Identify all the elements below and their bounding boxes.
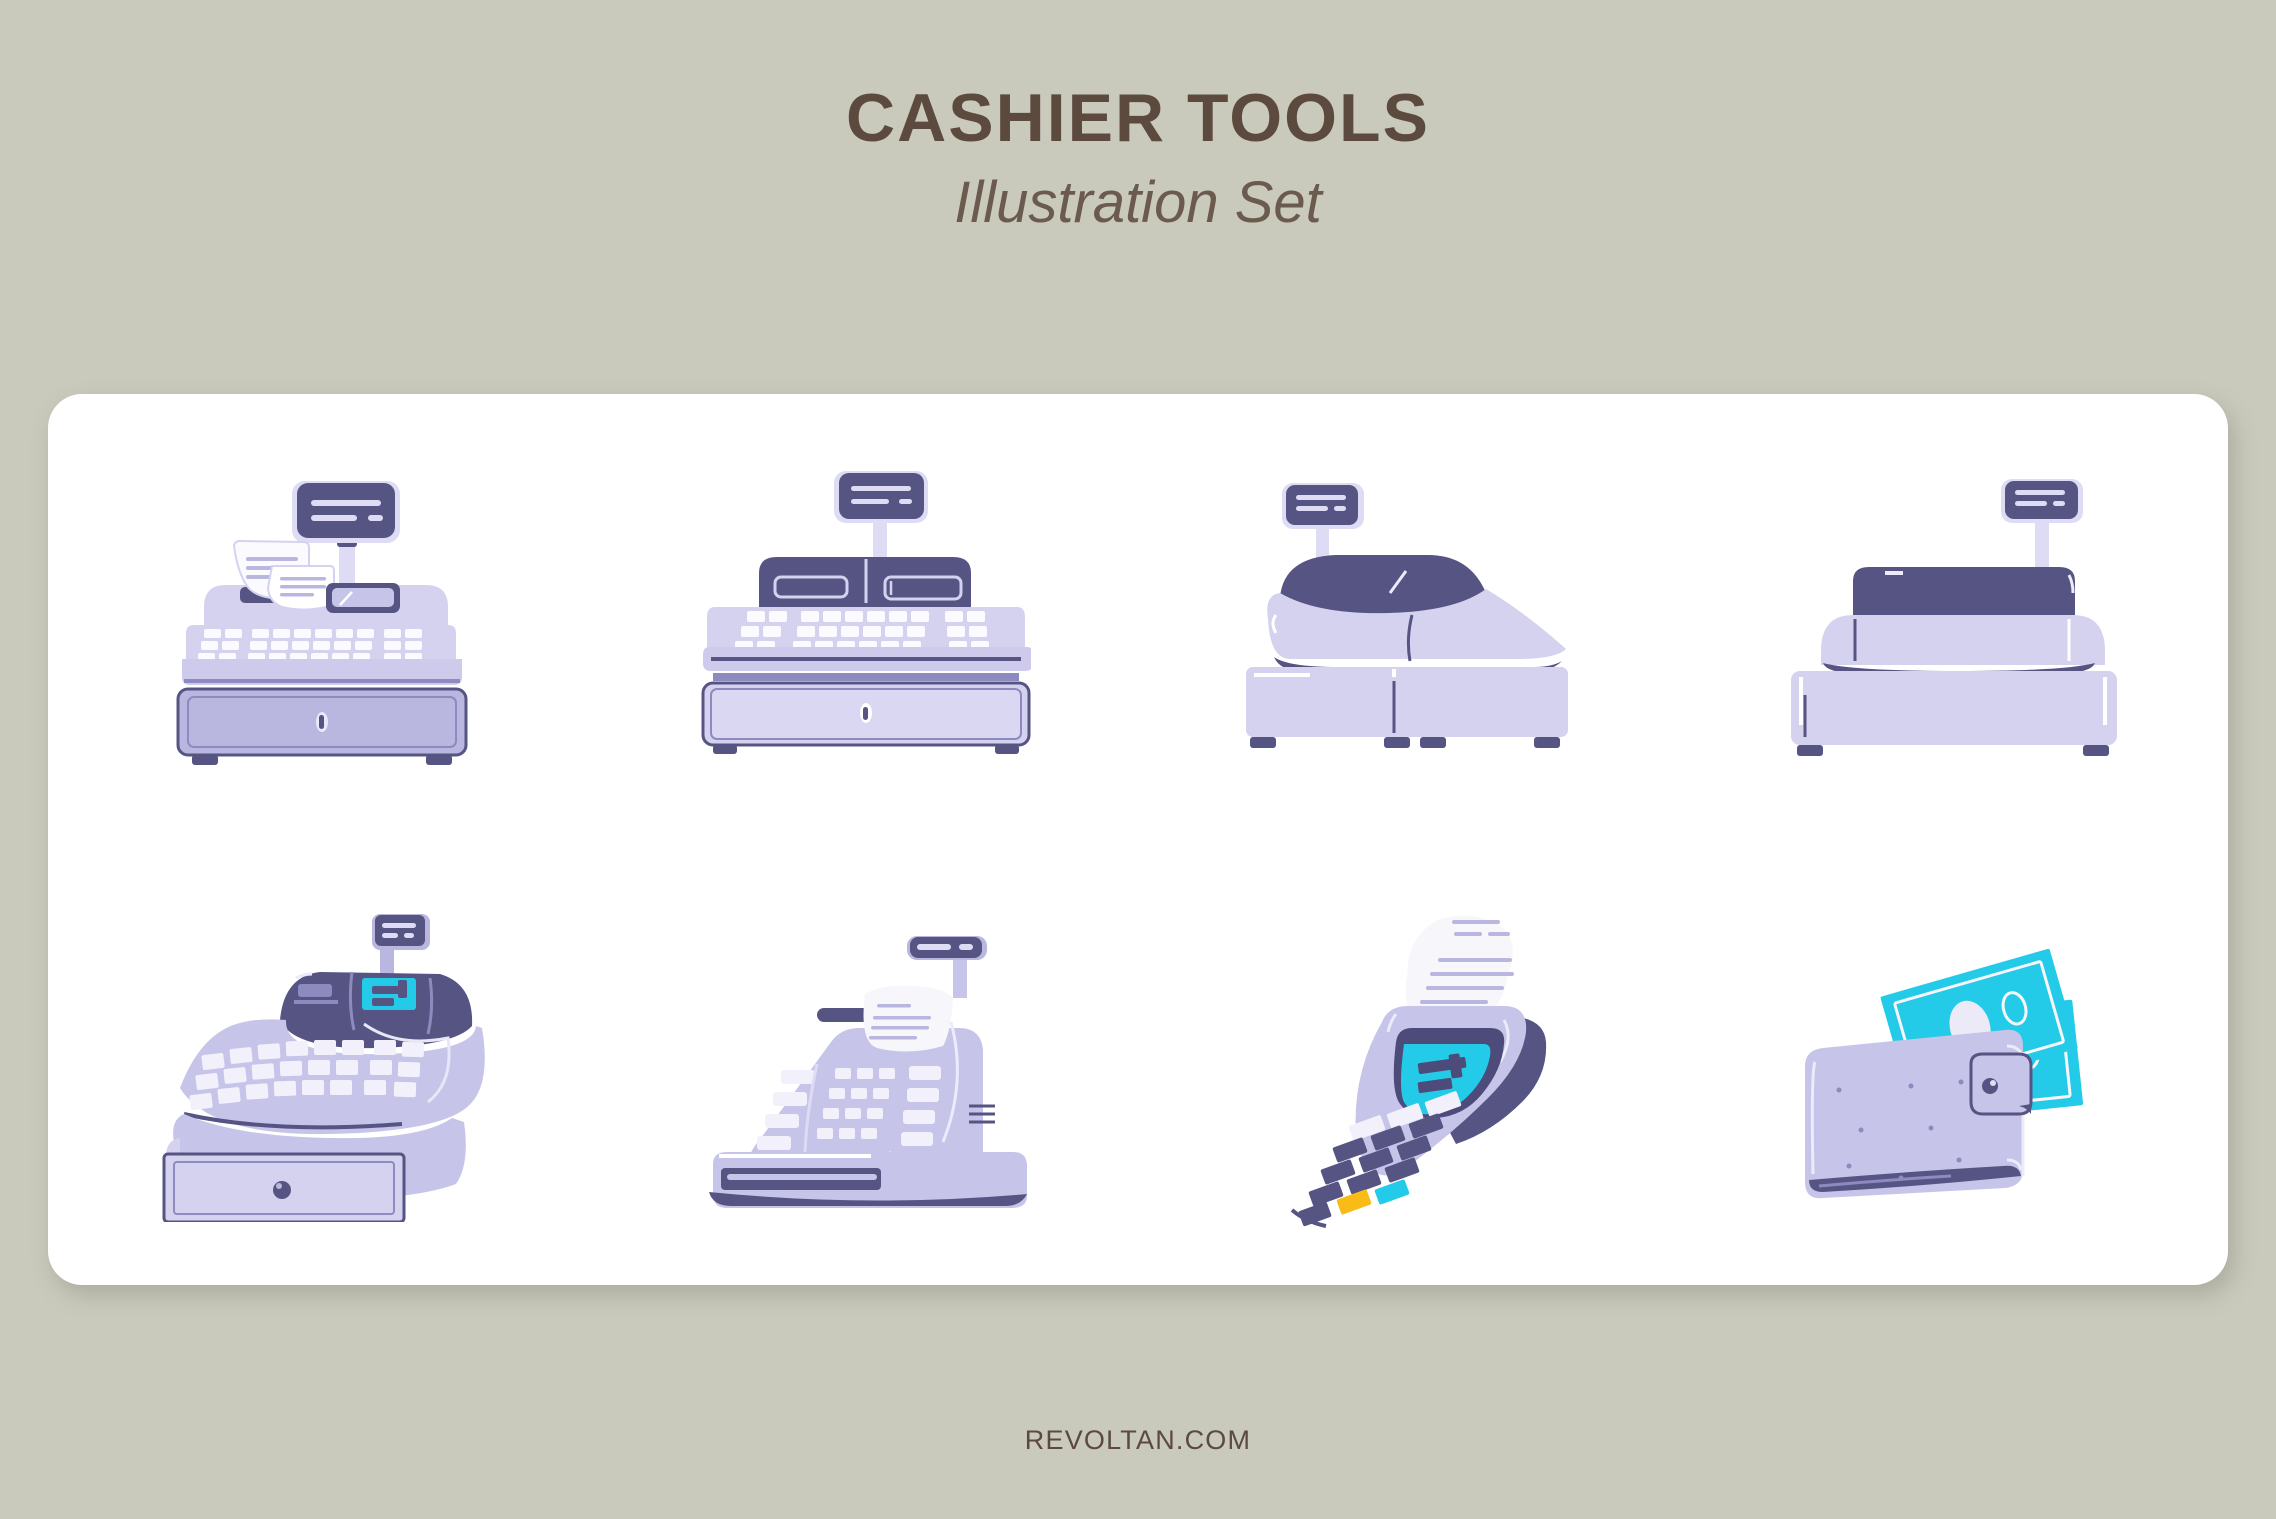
illustration-cell-4[interactable] xyxy=(1683,394,2228,840)
illustration-card xyxy=(48,394,2228,1285)
illustration-cell-2[interactable] xyxy=(593,394,1138,840)
cash-register-flat-top-icon xyxy=(1791,467,2121,767)
page-subtitle: Illustration Set xyxy=(0,152,2276,232)
cash-register-with-receipt-printer-icon xyxy=(156,467,486,767)
illustration-cell-6[interactable] xyxy=(593,840,1138,1286)
page-header: CASHIER TOOLS Illustration Set xyxy=(0,0,2276,232)
footer-credit: REVOLTAN.COM xyxy=(0,1425,2276,1456)
illustration-grid xyxy=(48,394,2228,1285)
illustration-cell-8[interactable] xyxy=(1683,840,2228,1286)
wallet-with-banknotes-icon xyxy=(1791,912,2121,1212)
cash-register-receipt-feeding-icon xyxy=(701,902,1031,1222)
illustration-cell-5[interactable] xyxy=(48,840,593,1286)
illustration-cell-1[interactable] xyxy=(48,394,593,840)
illustration-cell-7[interactable] xyxy=(1138,840,1683,1286)
card-payment-terminal-icon xyxy=(1246,892,1576,1232)
cash-register-dual-display-icon xyxy=(701,467,1031,767)
page-title: CASHIER TOOLS xyxy=(0,0,2276,152)
illustration-cell-3[interactable] xyxy=(1138,394,1683,840)
cash-register-side-view-icon xyxy=(1246,467,1576,767)
cash-register-perspective-cyan-display-icon xyxy=(156,902,486,1222)
